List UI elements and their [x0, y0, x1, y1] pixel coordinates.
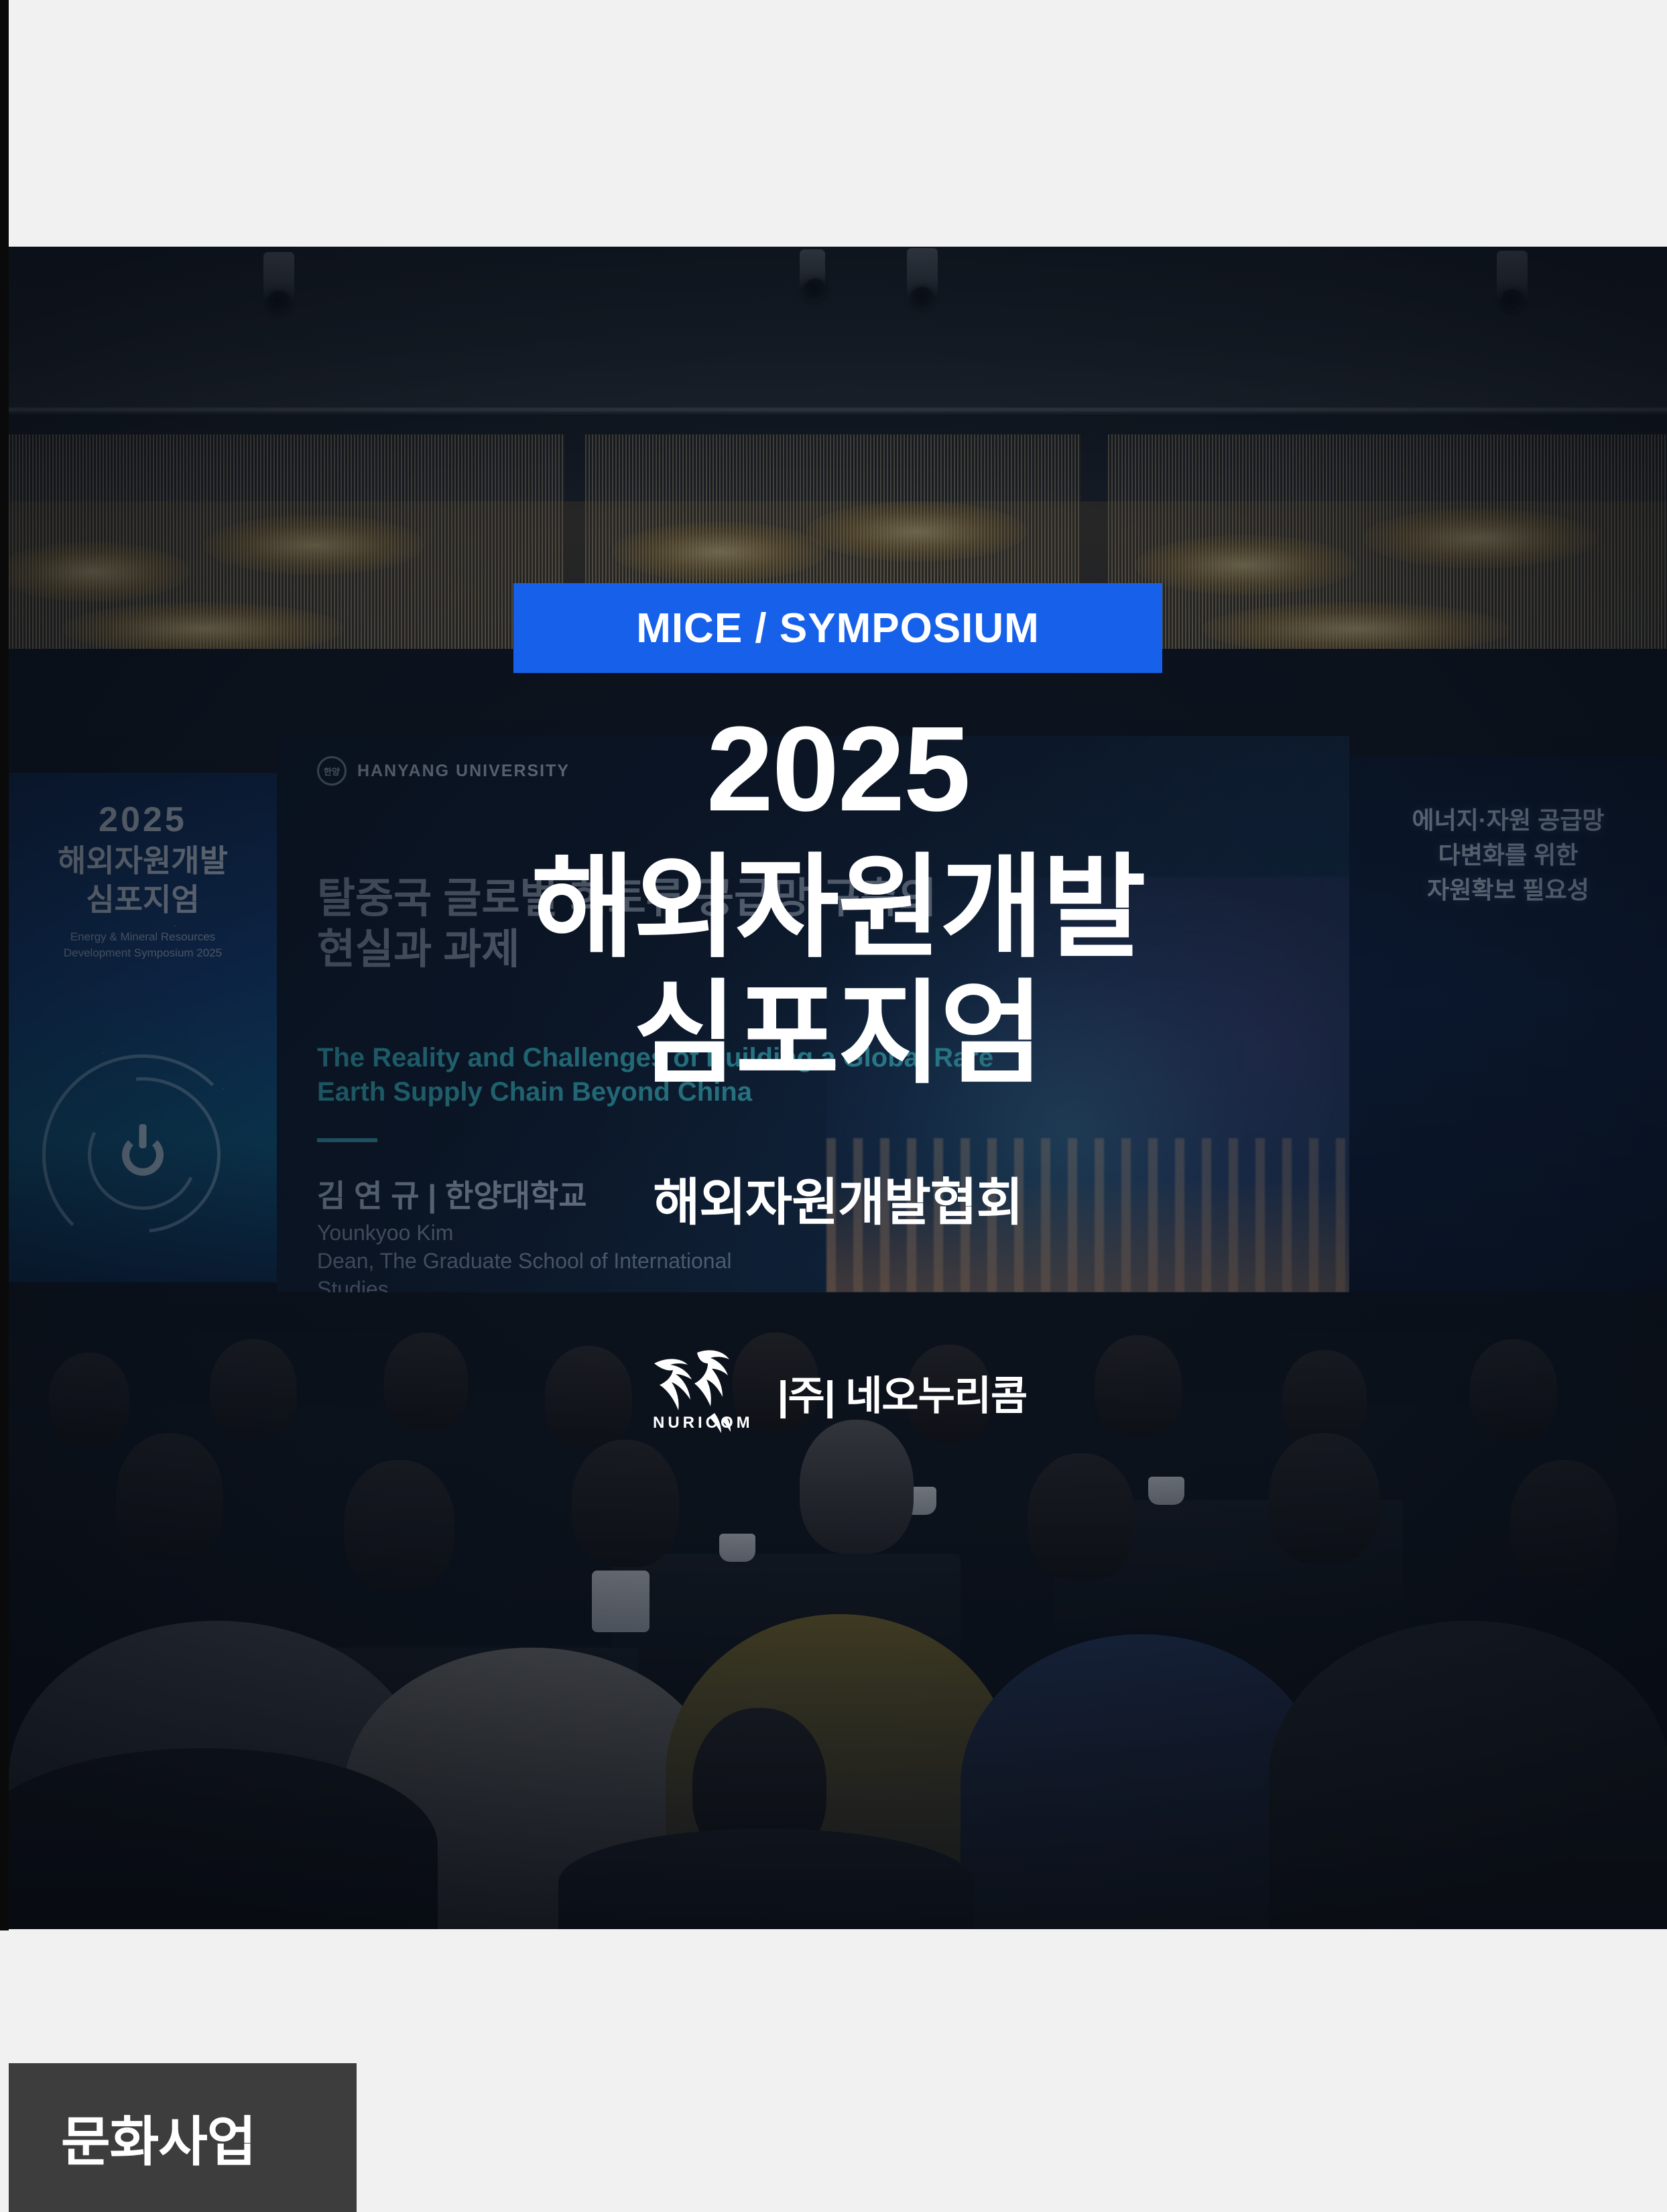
screen-english-subtitle: The Reality and Challenges of Building a…: [317, 1041, 1309, 1109]
category-chip-culture-business[interactable]: 문화사업: [9, 2063, 357, 2212]
screen-english-line1: The Reality and Challenges of Building a…: [317, 1041, 1309, 1075]
screen-skyline-graphic: [826, 1138, 1349, 1292]
power-symbol-icon: [122, 1134, 164, 1176]
left-black-rail: [0, 0, 9, 1930]
stage-area: 2025 해외자원개발 심포지엄 Energy & Mineral Resour…: [9, 649, 1667, 1406]
ceiling-spotlight-icon: [800, 249, 825, 290]
ceiling-strip: [9, 408, 1667, 412]
paper-cup: [592, 1571, 650, 1632]
hanyang-seal-icon: 한양: [317, 756, 347, 786]
stage-presentation-screen: 한양 HANYANG UNIVERSITY 탈중국 글로벌 희토류 공급망 구축…: [277, 736, 1349, 1292]
hanyang-university-logo: 한양 HANYANG UNIVERSITY: [317, 756, 570, 786]
hanyang-university-label: HANYANG UNIVERSITY: [357, 761, 570, 781]
power-ring-graphic-icon: [42, 1054, 243, 1255]
screen-headline-line1: 탈중국 글로벌 희토류 공급망 구축의: [317, 873, 937, 924]
screen-speaker-korean: 김 연 규 | 한양대학교: [317, 1172, 587, 1216]
left-banner-year: 2025: [9, 800, 277, 840]
chandelier-panel: [9, 434, 565, 656]
right-banner-line2: 다변화를 위한: [1349, 838, 1667, 873]
nuricom-brand-name: |주| 네오누리콤: [778, 1363, 1027, 1422]
category-label: 문화사업: [61, 2099, 255, 2176]
nuricom-bird-logo-icon: NURICOM: [649, 1342, 763, 1442]
right-banner-line3: 자원확보 필요성: [1349, 873, 1667, 908]
coffee-cup: [1148, 1477, 1184, 1505]
hero-photo-card[interactable]: 2025 해외자원개발 심포지엄 Energy & Mineral Resour…: [9, 247, 1667, 1929]
left-banner-title-line2: 심포지엄: [9, 881, 277, 918]
left-banner-subtitle-line2: Development Symposium 2025: [9, 945, 277, 962]
ceiling-backdrop: [9, 247, 1667, 421]
ceiling-spotlight-icon: [263, 252, 294, 302]
screen-headline: 탈중국 글로벌 희토류 공급망 구축의 현실과 과제: [317, 873, 937, 975]
ceiling-spotlight-icon: [907, 248, 938, 298]
screen-headline-line2: 현실과 과제: [317, 924, 937, 975]
screen-english-line2: Earth Supply Chain Beyond China: [317, 1075, 1309, 1109]
screen-divider-rule: [317, 1138, 377, 1142]
ceiling-spotlight-icon: [1497, 251, 1528, 300]
right-banner-line1: 에너지·자원 공급망: [1349, 803, 1667, 838]
right-standing-banner: 에너지·자원 공급망 다변화를 위한 자원확보 필요성: [1349, 756, 1667, 1292]
chandelier-panel: [1108, 434, 1667, 656]
left-banner-subtitle-line1: Energy & Mineral Resources: [9, 929, 277, 946]
left-banner-title-line1: 해외자원개발: [9, 843, 277, 879]
nuricom-brand-lockup[interactable]: NURICOM |주| 네오누리콤: [649, 1342, 1027, 1442]
mice-symposium-badge[interactable]: MICE / SYMPOSIUM: [513, 583, 1162, 673]
left-standing-banner: 2025 해외자원개발 심포지엄 Energy & Mineral Resour…: [9, 773, 277, 1282]
svg-text:NURICOM: NURICOM: [653, 1414, 753, 1432]
coffee-cup: [719, 1534, 755, 1562]
